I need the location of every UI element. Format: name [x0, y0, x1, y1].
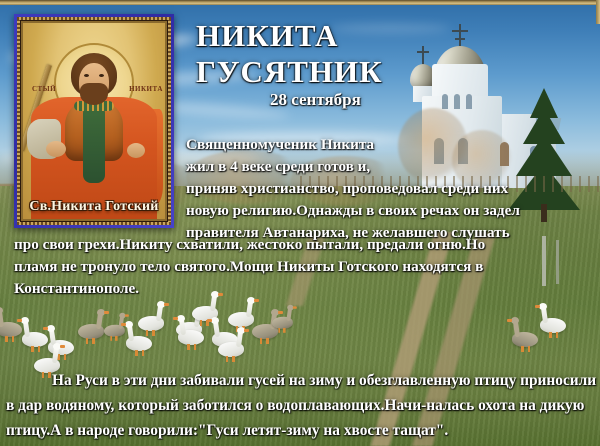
top-border — [0, 0, 600, 5]
feast-date: 28 сентября — [196, 90, 496, 110]
icon-inscription-left: СТЫЙ — [27, 85, 61, 93]
page-title: НИКИТА ГУСЯТНИК — [196, 18, 496, 90]
icon-inscription-right: НИКИТА — [129, 85, 163, 93]
icon-caption: Св.Никита Готский — [14, 199, 174, 214]
paragraph-top: Священномученик Никита жил в 4 веке сред… — [186, 134, 598, 244]
right-border — [596, 0, 600, 24]
icon-panel: СТЫЙ НИКИТА — [21, 21, 167, 221]
paragraph-wide: про свои грехи.Никиту схватили, жестоко … — [14, 234, 594, 300]
saint-beard — [80, 83, 108, 105]
holiday-poster: СТЫЙ НИКИТА Св.Никита Готский НИКИТА ГУС… — [0, 0, 600, 446]
saint-tunic — [83, 105, 105, 183]
saint-hand — [46, 141, 66, 157]
saint-hand — [127, 143, 145, 158]
saint-icon: СТЫЙ НИКИТА Св.Никита Готский — [14, 14, 174, 228]
paragraph-bottom: На Руси в эти дни забивали гусей на зиму… — [6, 368, 598, 443]
